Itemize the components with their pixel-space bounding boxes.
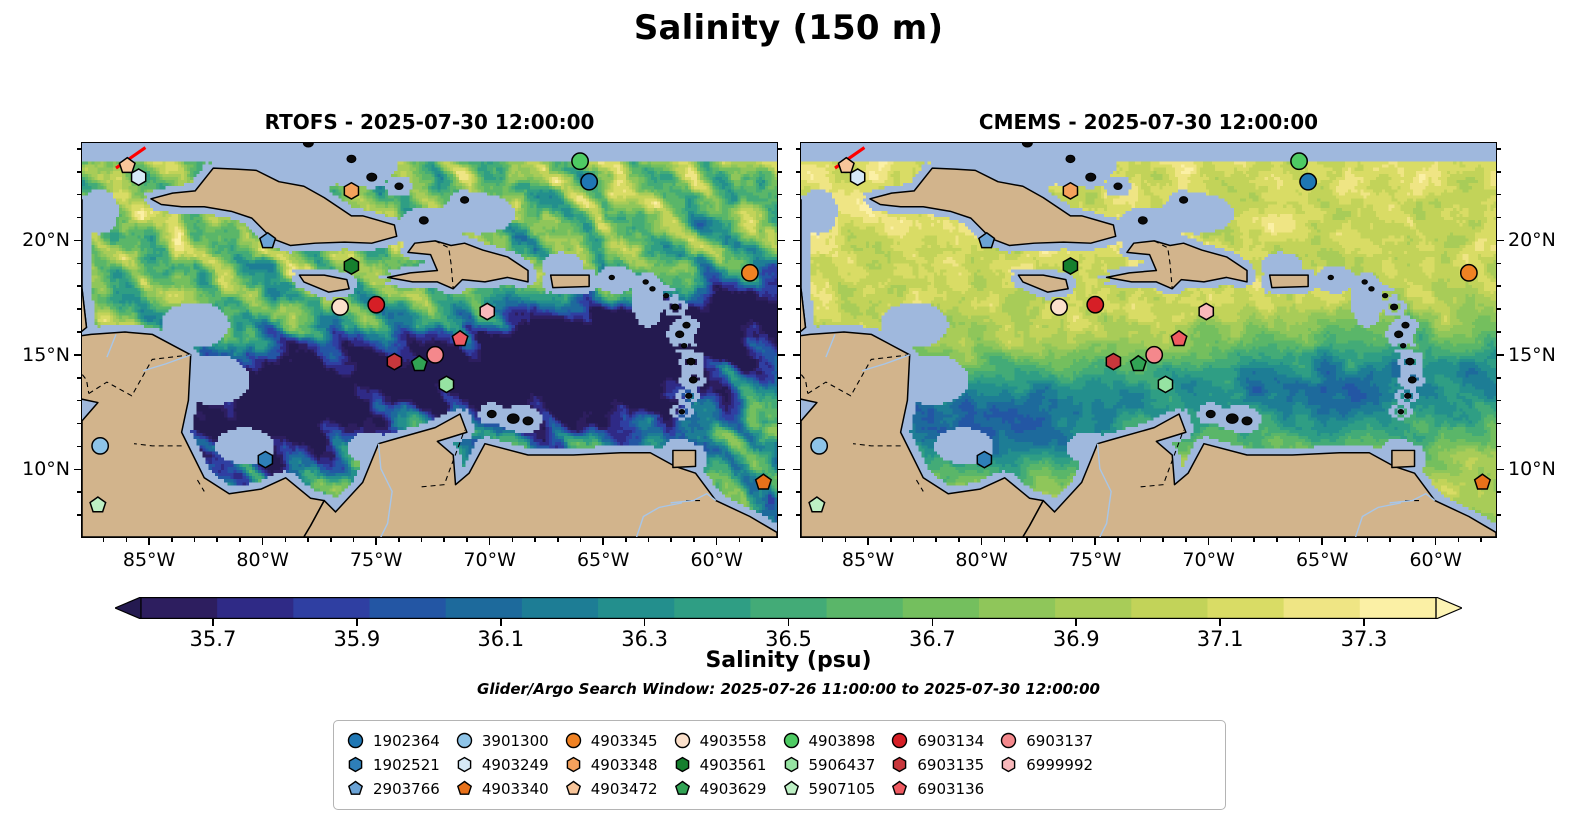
map-marker-4903345[interactable] xyxy=(742,265,758,281)
y-tick-minor xyxy=(778,194,782,196)
y-tick xyxy=(778,469,785,471)
map-marker-5906437[interactable] xyxy=(439,376,453,392)
legend-marker-circle-icon xyxy=(893,734,907,748)
legend-label-4903249: 4903249 xyxy=(482,756,549,774)
map-marker-1902521[interactable] xyxy=(977,451,991,467)
map-marker-4903249[interactable] xyxy=(851,169,865,185)
y-tick-minor xyxy=(1497,171,1501,173)
map-marker-6999992[interactable] xyxy=(480,303,494,319)
x-tick-label: 75°W xyxy=(1069,549,1121,571)
legend-swatch-4903345 xyxy=(564,731,583,750)
y-tick-label: 10°N xyxy=(1508,458,1556,480)
y-tick-minor xyxy=(796,377,800,379)
legend-swatch-6903136 xyxy=(890,779,909,798)
legend-column-4: 490355849035614903629 xyxy=(673,730,778,799)
legend-label-1902364: 1902364 xyxy=(373,732,440,750)
legend-marker-hexagon-icon xyxy=(458,758,470,772)
y-tick-minor xyxy=(1497,285,1501,287)
legend-label-6903136: 6903136 xyxy=(917,780,984,798)
y-tick-minor xyxy=(778,308,782,310)
legend-label-4903898: 4903898 xyxy=(809,732,876,750)
y-tick-minor xyxy=(77,171,81,173)
colorbar-tick xyxy=(500,619,502,626)
map-marker-4903348[interactable] xyxy=(1063,183,1077,199)
map-marker-6903135[interactable] xyxy=(387,353,401,369)
legend-marker-pentagon-icon xyxy=(784,782,797,795)
x-tick-minor xyxy=(1004,538,1006,542)
x-tick-label: 85°W xyxy=(123,549,175,571)
x-tick-minor xyxy=(353,538,355,542)
colorbar-tick xyxy=(932,619,934,626)
x-tick-minor xyxy=(512,538,514,542)
legend-marker-pentagon-icon xyxy=(675,782,688,795)
legend-swatch-3901300 xyxy=(455,731,474,750)
x-tick xyxy=(148,538,150,545)
legend-item-6999992[interactable]: 6999992 xyxy=(999,754,1104,775)
y-tick-minor xyxy=(77,194,81,196)
legend-item-5906437[interactable]: 5906437 xyxy=(782,754,887,775)
y-tick-minor xyxy=(796,514,800,516)
x-tick-minor xyxy=(935,538,937,542)
y-tick-minor xyxy=(1497,331,1501,333)
y-tick-minor xyxy=(77,377,81,379)
x-tick-minor xyxy=(1049,538,1051,542)
x-tick-minor xyxy=(307,538,309,542)
y-tick-minor xyxy=(1497,217,1501,219)
legend-swatch-4903558 xyxy=(673,731,692,750)
y-tick xyxy=(74,469,81,471)
y-tick-label: 15°N xyxy=(1508,344,1556,366)
x-tick-minor xyxy=(171,538,173,542)
map-marker-6903134[interactable] xyxy=(1087,297,1103,313)
y-tick-minor xyxy=(778,263,782,265)
legend-swatch-4903472 xyxy=(564,779,583,798)
y-tick-minor xyxy=(77,514,81,516)
x-tick-minor xyxy=(557,538,559,542)
legend-item-6903134[interactable]: 6903134 xyxy=(890,730,995,751)
colorbar-tick xyxy=(644,619,646,626)
y-tick-minor xyxy=(778,331,782,333)
x-tick xyxy=(867,538,869,545)
map-marker-4903561[interactable] xyxy=(344,258,358,274)
x-tick-minor xyxy=(739,538,741,542)
legend-item-3901300[interactable]: 3901300 xyxy=(455,730,560,751)
y-tick-minor xyxy=(1497,308,1501,310)
x-tick-minor xyxy=(890,538,892,542)
y-tick-minor xyxy=(778,491,782,493)
x-tick-minor xyxy=(625,538,627,542)
y-tick-minor xyxy=(778,423,782,425)
y-tick-minor xyxy=(1497,514,1501,516)
y-tick xyxy=(74,354,81,356)
colorbar-gradient xyxy=(115,597,1462,619)
panel-title-cmems: CMEMS - 2025-07-30 12:00:00 xyxy=(800,110,1497,134)
legend-label-4903348: 4903348 xyxy=(591,756,658,774)
x-tick-minor xyxy=(958,538,960,542)
legend-swatch-4903629 xyxy=(673,779,692,798)
y-tick-minor xyxy=(778,171,782,173)
x-tick-minor xyxy=(1458,538,1460,542)
y-tick-minor xyxy=(1497,148,1501,150)
y-tick-minor xyxy=(77,400,81,402)
y-tick-minor xyxy=(796,263,800,265)
legend-column-3: 490334549033484903472 xyxy=(564,730,669,799)
colorbar-tick xyxy=(1363,619,1365,626)
y-tick xyxy=(74,240,81,242)
x-tick-minor xyxy=(194,538,196,542)
x-tick-minor xyxy=(693,538,695,542)
x-tick xyxy=(1094,538,1096,545)
y-tick-minor xyxy=(1497,400,1501,402)
legend-item-5907105[interactable]: 5907105 xyxy=(782,778,887,799)
y-tick-minor xyxy=(796,194,800,196)
x-tick-minor xyxy=(1389,538,1391,542)
x-tick-minor xyxy=(443,538,445,542)
y-tick xyxy=(778,354,785,356)
x-tick-minor xyxy=(1367,538,1369,542)
y-tick-minor xyxy=(778,285,782,287)
y-tick-minor xyxy=(1497,377,1501,379)
legend-marker-pentagon-icon xyxy=(458,782,471,795)
legend-label-4903558: 4903558 xyxy=(700,732,767,750)
map-marker-6903135[interactable] xyxy=(1106,353,1120,369)
x-tick-minor xyxy=(1026,538,1028,542)
legend-item-4903348[interactable]: 4903348 xyxy=(564,754,669,775)
x-tick-minor xyxy=(285,538,287,542)
legend-marker-hexagon-icon xyxy=(785,758,797,772)
legend-swatch-1902521 xyxy=(346,755,365,774)
colorbar-label: Salinity (psu) xyxy=(0,648,1577,673)
x-tick-minor xyxy=(1231,538,1233,542)
y-tick-minor xyxy=(77,148,81,150)
map-canvas-rtofs[interactable] xyxy=(81,142,778,538)
x-tick-minor xyxy=(1185,538,1187,542)
x-tick-minor xyxy=(1162,538,1164,542)
legend-swatch-6903135 xyxy=(890,755,909,774)
y-tick-minor xyxy=(1497,194,1501,196)
y-tick-minor xyxy=(796,308,800,310)
legend-item-4903558[interactable]: 4903558 xyxy=(673,730,778,751)
platform-legend: 1902364190252129037663901300490324949033… xyxy=(333,720,1226,810)
legend-marker-hexagon-icon xyxy=(567,758,579,772)
y-tick-minor xyxy=(796,171,800,173)
y-tick-minor xyxy=(77,423,81,425)
legend-item-6903136[interactable]: 6903136 xyxy=(890,778,995,799)
x-tick-minor xyxy=(913,538,915,542)
y-tick-minor xyxy=(796,400,800,402)
legend-swatch-4903898 xyxy=(782,731,801,750)
x-tick-minor xyxy=(1480,538,1482,542)
legend-label-1902521: 1902521 xyxy=(373,756,440,774)
x-tick-minor xyxy=(330,538,332,542)
y-tick-minor xyxy=(796,148,800,150)
x-tick xyxy=(981,538,983,545)
x-tick xyxy=(262,538,264,545)
map-marker-6903137[interactable] xyxy=(427,347,443,363)
colorbar-tick xyxy=(788,619,790,626)
x-tick xyxy=(1435,538,1437,545)
legend-column-5: 490389859064375907105 xyxy=(782,730,887,799)
legend-swatch-5907105 xyxy=(782,779,801,798)
legend-item-4903472[interactable]: 4903472 xyxy=(564,778,669,799)
map-marker-6903137[interactable] xyxy=(1146,347,1162,363)
colorbar-tick xyxy=(1219,619,1221,626)
legend-label-4903340: 4903340 xyxy=(482,780,549,798)
legend-marker-hexagon-icon xyxy=(349,758,361,772)
y-tick-minor xyxy=(796,446,800,448)
map-marker-4903561[interactable] xyxy=(1063,258,1077,274)
legend-column-2: 390130049032494903340 xyxy=(455,730,560,799)
legend-label-4903561: 4903561 xyxy=(700,756,767,774)
legend-marker-circle-icon xyxy=(566,734,580,748)
legend-marker-hexagon-icon xyxy=(894,758,906,772)
legend-item-4903345[interactable]: 4903345 xyxy=(564,730,669,751)
map-marker-4903898[interactable] xyxy=(1291,153,1307,169)
x-tick-minor xyxy=(1253,538,1255,542)
y-tick xyxy=(1497,240,1504,242)
x-tick-label: 85°W xyxy=(842,549,894,571)
legend-item-6903137[interactable]: 6903137 xyxy=(999,730,1104,751)
x-tick-label: 80°W xyxy=(955,549,1007,571)
legend-label-4903629: 4903629 xyxy=(700,780,767,798)
y-tick-label: 20°N xyxy=(22,229,70,251)
map-marker-4903558[interactable] xyxy=(332,299,348,315)
x-tick xyxy=(489,538,491,545)
map-marker-1902364[interactable] xyxy=(1300,174,1316,190)
x-tick-label: 65°W xyxy=(1296,549,1348,571)
map-canvas-cmems[interactable] xyxy=(800,142,1497,538)
colorbar-tick xyxy=(212,619,214,626)
legend-column-7: 69031376999992 xyxy=(999,730,1104,799)
y-tick-minor xyxy=(778,446,782,448)
map-marker-3901300[interactable] xyxy=(811,438,827,454)
map-marker-4903348[interactable] xyxy=(344,183,358,199)
x-tick-minor xyxy=(1276,538,1278,542)
y-tick-label: 15°N xyxy=(22,344,70,366)
legend-marker-hexagon-icon xyxy=(1003,758,1015,772)
legend-marker-circle-icon xyxy=(784,734,798,748)
x-tick-minor xyxy=(580,538,582,542)
legend-item-4903898[interactable]: 4903898 xyxy=(782,730,887,751)
map-marker-4903345[interactable] xyxy=(1461,265,1477,281)
x-tick-minor xyxy=(421,538,423,542)
legend-swatch-6999992 xyxy=(999,755,1018,774)
map-panel-rtofs[interactable]: RTOFS - 2025-07-30 12:00:00 85°W80°W75°W… xyxy=(81,142,778,538)
y-tick-minor xyxy=(77,308,81,310)
legend-label-5906437: 5906437 xyxy=(809,756,876,774)
panel-title-rtofs: RTOFS - 2025-07-30 12:00:00 xyxy=(81,110,778,134)
legend-swatch-6903134 xyxy=(890,731,909,750)
y-tick-minor xyxy=(1497,423,1501,425)
legend-swatch-1902364 xyxy=(346,731,365,750)
y-tick-minor xyxy=(77,263,81,265)
y-tick-minor xyxy=(77,285,81,287)
x-tick xyxy=(375,538,377,545)
x-tick-minor xyxy=(822,538,824,542)
x-tick-label: 70°W xyxy=(463,549,515,571)
x-tick-minor xyxy=(648,538,650,542)
y-tick xyxy=(793,240,800,242)
page-title: Salinity (150 m) xyxy=(0,8,1577,48)
legend-label-6999992: 6999992 xyxy=(1026,756,1093,774)
y-tick-minor xyxy=(796,423,800,425)
legend-label-6903137: 6903137 xyxy=(1026,732,1093,750)
x-tick-label: 60°W xyxy=(690,549,742,571)
x-tick xyxy=(716,538,718,545)
legend-marker-pentagon-icon xyxy=(567,782,580,795)
y-tick-minor xyxy=(1497,263,1501,265)
legend-marker-circle-icon xyxy=(1002,734,1016,748)
y-tick-minor xyxy=(77,491,81,493)
legend-column-1: 190236419025212903766 xyxy=(346,730,451,799)
legend-label-4903345: 4903345 xyxy=(591,732,658,750)
y-tick-minor xyxy=(796,491,800,493)
legend-label-3901300: 3901300 xyxy=(482,732,549,750)
figure-canvas: Salinity (150 m) RTOFS - 2025-07-30 12:0… xyxy=(0,0,1577,827)
legend-label-6903134: 6903134 xyxy=(917,732,984,750)
legend-label-2903766: 2903766 xyxy=(373,780,440,798)
legend-swatch-2903766 xyxy=(346,779,365,798)
y-tick-minor xyxy=(77,217,81,219)
map-panel-cmems[interactable]: CMEMS - 2025-07-30 12:00:00 85°W80°W75°W… xyxy=(800,142,1497,538)
x-tick-label: 80°W xyxy=(236,549,288,571)
y-tick-minor xyxy=(796,331,800,333)
legend-marker-pentagon-icon xyxy=(893,782,906,795)
legend-swatch-4903561 xyxy=(673,755,692,774)
y-tick-minor xyxy=(778,148,782,150)
legend-label-5907105: 5907105 xyxy=(809,780,876,798)
legend-marker-circle-icon xyxy=(675,734,689,748)
y-tick-minor xyxy=(778,514,782,516)
x-tick xyxy=(602,538,604,545)
x-tick-label: 60°W xyxy=(1409,549,1461,571)
x-tick-minor xyxy=(398,538,400,542)
legend-swatch-4903340 xyxy=(455,779,474,798)
y-tick xyxy=(793,469,800,471)
legend-swatch-4903249 xyxy=(455,755,474,774)
legend-item-1902521[interactable]: 1902521 xyxy=(346,754,451,775)
colorbar-tick xyxy=(356,619,358,626)
x-tick xyxy=(1208,538,1210,545)
legend-item-4903561[interactable]: 4903561 xyxy=(673,754,778,775)
x-tick-minor xyxy=(103,538,105,542)
y-tick-minor xyxy=(778,377,782,379)
legend-item-4903629[interactable]: 4903629 xyxy=(673,778,778,799)
y-tick-label: 20°N xyxy=(1508,229,1556,251)
y-tick-minor xyxy=(796,285,800,287)
y-tick xyxy=(1497,469,1504,471)
legend-item-4903340[interactable]: 4903340 xyxy=(455,778,560,799)
search-window-caption: Glider/Argo Search Window: 2025-07-26 11… xyxy=(0,680,1577,698)
y-tick xyxy=(1497,354,1504,356)
y-tick xyxy=(778,240,785,242)
y-tick xyxy=(793,354,800,356)
x-tick-minor xyxy=(1299,538,1301,542)
y-tick-minor xyxy=(778,217,782,219)
colorbar-tick xyxy=(1075,619,1077,626)
x-tick-minor xyxy=(1140,538,1142,542)
map-marker-4903558[interactable] xyxy=(1051,299,1067,315)
legend-column-6: 690313469031356903136 xyxy=(890,730,995,799)
x-tick-minor xyxy=(1412,538,1414,542)
y-tick-minor xyxy=(796,217,800,219)
x-tick-minor xyxy=(1344,538,1346,542)
map-marker-1902521[interactable] xyxy=(258,451,272,467)
legend-item-2903766[interactable]: 2903766 xyxy=(346,778,451,799)
colorbar: 35.735.936.136.336.536.736.937.137.3 xyxy=(115,597,1462,619)
legend-swatch-6903137 xyxy=(999,731,1018,750)
map-marker-1902364[interactable] xyxy=(581,174,597,190)
legend-item-4903249[interactable]: 4903249 xyxy=(455,754,560,775)
x-tick-minor xyxy=(466,538,468,542)
x-tick-minor xyxy=(845,538,847,542)
x-tick-label: 70°W xyxy=(1182,549,1234,571)
legend-label-4903472: 4903472 xyxy=(591,780,658,798)
map-marker-4903898[interactable] xyxy=(572,153,588,169)
legend-label-6903135: 6903135 xyxy=(917,756,984,774)
x-tick-minor xyxy=(239,538,241,542)
x-tick-label: 65°W xyxy=(577,549,629,571)
map-marker-6903134[interactable] xyxy=(368,297,384,313)
legend-marker-circle-icon xyxy=(349,734,363,748)
legend-swatch-4903348 xyxy=(564,755,583,774)
x-tick-minor xyxy=(126,538,128,542)
y-tick-minor xyxy=(77,331,81,333)
x-tick-minor xyxy=(670,538,672,542)
map-marker-4903249[interactable] xyxy=(132,169,146,185)
map-marker-3901300[interactable] xyxy=(92,438,108,454)
x-tick-minor xyxy=(1072,538,1074,542)
y-tick-minor xyxy=(1497,446,1501,448)
y-tick-minor xyxy=(778,400,782,402)
y-tick-minor xyxy=(1497,491,1501,493)
legend-swatch-5906437 xyxy=(782,755,801,774)
map-marker-6999992[interactable] xyxy=(1199,303,1213,319)
y-tick-minor xyxy=(77,446,81,448)
x-tick-label: 75°W xyxy=(350,549,402,571)
x-tick-minor xyxy=(216,538,218,542)
legend-item-1902364[interactable]: 1902364 xyxy=(346,730,451,751)
legend-marker-circle-icon xyxy=(457,734,471,748)
legend-marker-pentagon-icon xyxy=(349,782,362,795)
legend-marker-hexagon-icon xyxy=(676,758,688,772)
y-tick-label: 10°N xyxy=(22,458,70,480)
x-tick-minor xyxy=(534,538,536,542)
map-marker-5906437[interactable] xyxy=(1158,376,1172,392)
legend-item-6903135[interactable]: 6903135 xyxy=(890,754,995,775)
x-tick-minor xyxy=(1117,538,1119,542)
x-tick xyxy=(1321,538,1323,545)
x-tick-minor xyxy=(761,538,763,542)
